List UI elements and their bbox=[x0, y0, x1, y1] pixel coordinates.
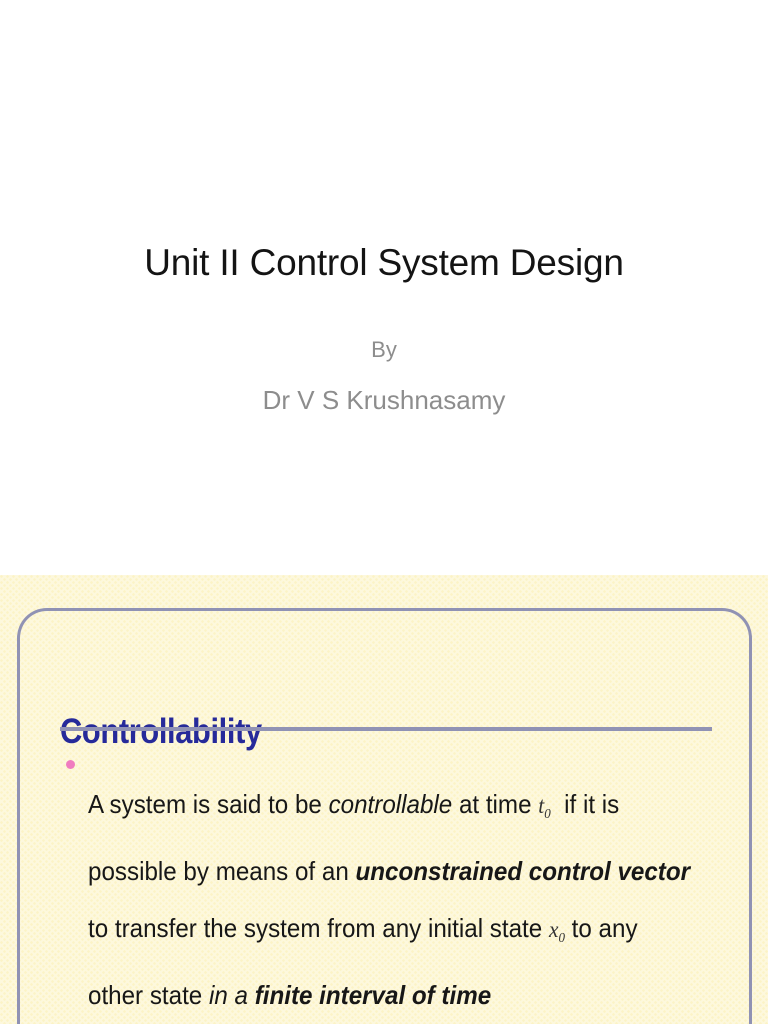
byline-label: By bbox=[0, 337, 768, 363]
bullet-text-body: A system is said to be controllable at t… bbox=[88, 776, 691, 1024]
section-heading: Controllability bbox=[60, 714, 262, 749]
title-slide: Unit II Control System Design By Dr V S … bbox=[0, 0, 768, 575]
bullet-marker-icon bbox=[66, 760, 75, 769]
page-title: Unit II Control System Design bbox=[0, 243, 768, 284]
content-slide: Controllability A system is said to be c… bbox=[0, 575, 768, 1024]
author-name: Dr V S Krushnasamy bbox=[0, 385, 768, 416]
presentation-page: { "document": { "type": "slide-deck-expo… bbox=[0, 0, 768, 1024]
heading-underline-rule bbox=[60, 727, 712, 731]
